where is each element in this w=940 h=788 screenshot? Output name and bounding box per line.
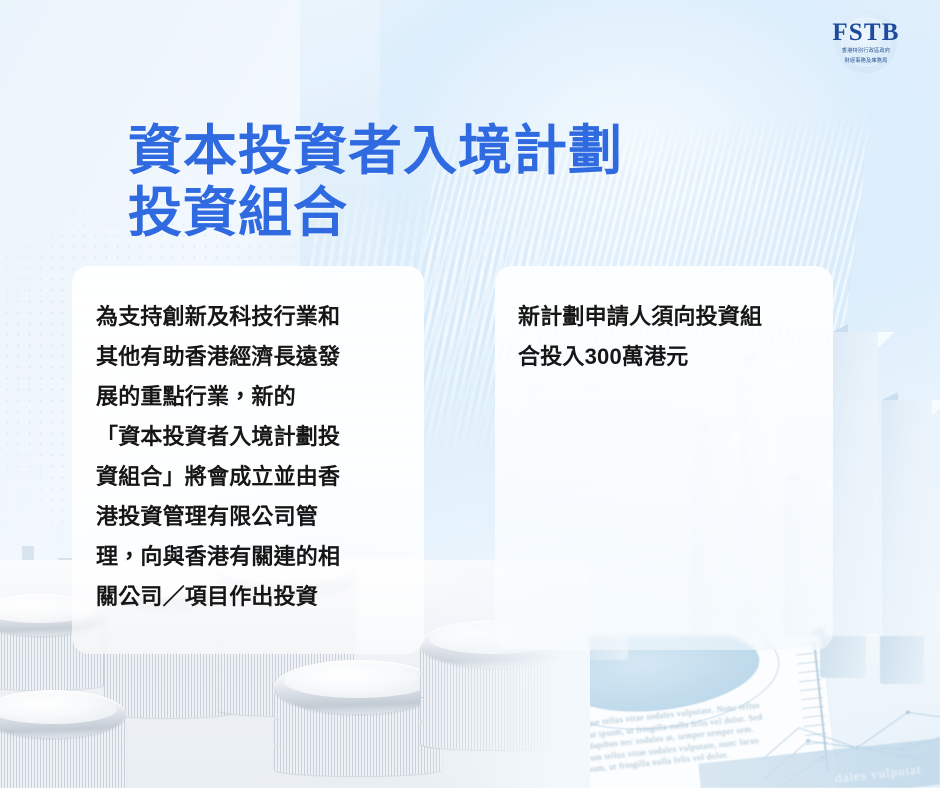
page-title: 資本投資者入境計劃 投資組合	[128, 120, 623, 244]
presentation-slide: Mauris congue tellus vitae sodales vulpu…	[0, 0, 940, 788]
investment-amount-text: 新計劃申請人須向投資組 合投入300萬港元	[518, 297, 815, 377]
investment-portfolio-description-card: 為支持創新及科技行業和 其他有助香港經濟長遠發 展的重點行業，新的 「資本投資者…	[72, 266, 424, 654]
blueprint-network-lines	[756, 682, 940, 788]
fstb-logo: FSTB 香港特別行政區政府 財經事務及庫務局	[814, 14, 918, 70]
blueprint-placeholder-text: Mauris congue tellus vitae sodales vulpu…	[544, 698, 783, 780]
investment-portfolio-description-text: 為支持創新及科技行業和 其他有助香港經濟長遠發 展的重點行業，新的 「資本投資者…	[96, 297, 404, 617]
blueprint-document-photo: Mauris congue tellus vitae sodales vulpu…	[520, 636, 940, 788]
investment-amount-card: 新計劃申請人須向投資組 合投入300萬港元	[495, 266, 833, 650]
logo-subtitle-line-2: 財經事務及庫務局	[844, 58, 887, 65]
logo-acronym: FSTB	[832, 20, 899, 45]
blueprint-strip-text: dales vulputat	[835, 762, 923, 787]
logo-subtitle-line-1: 香港特別行政區政府	[842, 48, 891, 55]
